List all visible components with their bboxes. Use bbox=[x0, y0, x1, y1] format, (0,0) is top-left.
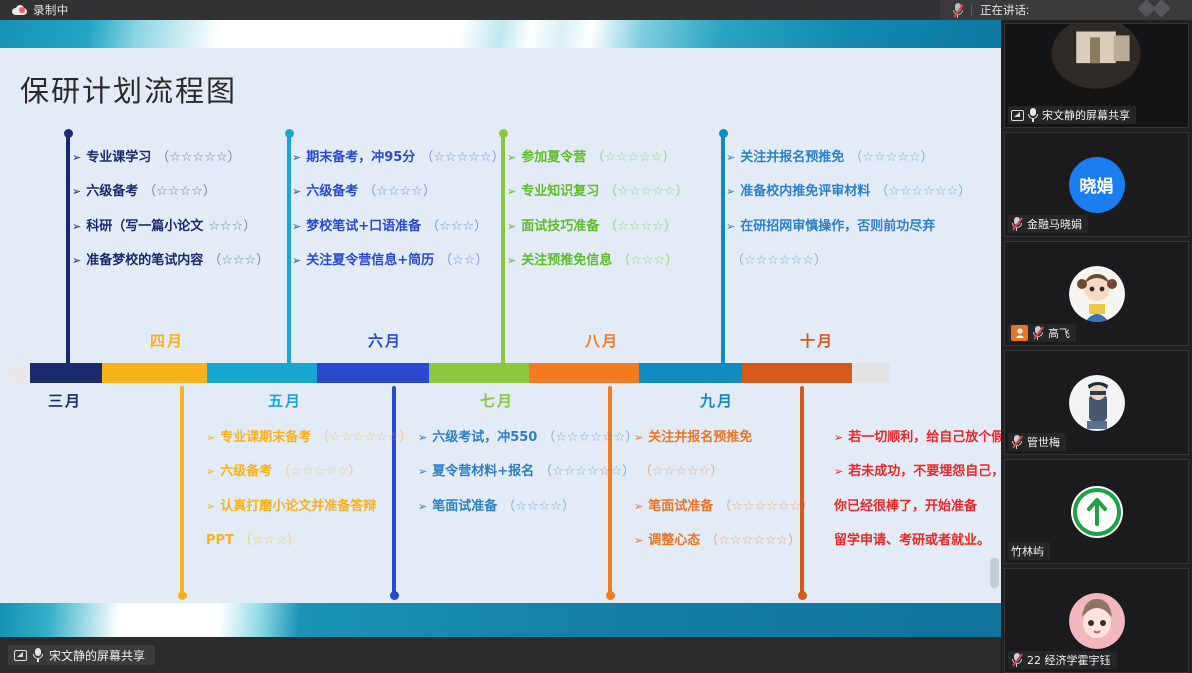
month-label-六月: 六月 bbox=[368, 330, 402, 351]
item-stars: （☆☆☆☆） bbox=[363, 184, 436, 200]
item-text: 在研招网审慎操作，否则前功尽弃 bbox=[740, 219, 935, 235]
connector-dot bbox=[64, 129, 73, 138]
speaking-label: 正在讲话: bbox=[980, 2, 1029, 18]
participant-name: 宋文静的屏幕共享 bbox=[1042, 107, 1130, 123]
item-text: PPT bbox=[206, 533, 234, 549]
item-stars: （☆☆☆☆） bbox=[502, 499, 575, 515]
participant-tile[interactable]: 高飞 bbox=[1004, 241, 1189, 346]
timeline-bar bbox=[10, 363, 920, 383]
bullet-arrow-icon: ➢ bbox=[418, 499, 427, 514]
item-stars: （☆☆☆☆☆☆） bbox=[539, 464, 635, 480]
avatar-image bbox=[1069, 593, 1125, 649]
mic-muted-icon bbox=[1011, 435, 1023, 449]
item-text: 六级备考 bbox=[306, 184, 358, 200]
timeline-connector bbox=[180, 386, 184, 596]
item-stars: （☆☆☆） bbox=[208, 253, 269, 269]
item-stars: （☆☆☆☆☆） bbox=[604, 184, 688, 200]
participant-tile[interactable]: 竹林屿 bbox=[1004, 459, 1189, 564]
bullet-arrow-icon: ➢ bbox=[726, 184, 735, 199]
participant-namebar: 管世梅 bbox=[1008, 433, 1066, 451]
item-stars: （☆☆☆☆☆） bbox=[591, 150, 675, 166]
item-stars: （☆☆☆☆） bbox=[604, 219, 677, 235]
item-text: 准备梦校的笔试内容 bbox=[86, 253, 203, 269]
participant-namebar: 22 经济学霍宇钰 bbox=[1008, 651, 1117, 669]
page-title: 保研计划流程图 bbox=[20, 68, 237, 110]
month-label-十月: 十月 bbox=[800, 330, 834, 351]
month-label-五月: 五月 bbox=[268, 390, 302, 411]
bullet-arrow-icon: ➢ bbox=[507, 150, 516, 165]
item-stars: （☆☆☆☆☆☆） bbox=[705, 533, 801, 549]
item-text: 关注并报名预推免 bbox=[740, 150, 844, 166]
list-item: ➢在研招网审慎操作，否则前功尽弃 bbox=[726, 219, 986, 235]
bullet-arrow-icon: ➢ bbox=[292, 184, 301, 199]
item-text: 关注预推免信息 bbox=[521, 253, 612, 269]
item-text: 六级考试，冲550 bbox=[432, 430, 537, 446]
item-stars: （☆☆☆☆☆☆） bbox=[875, 184, 971, 200]
bullet-arrow-icon: ➢ bbox=[726, 150, 735, 165]
timeline-connector bbox=[66, 133, 70, 365]
item-text: 调整心态 bbox=[648, 533, 700, 549]
slide-top-decoration bbox=[0, 20, 1001, 48]
bullet-arrow-icon: ➢ bbox=[292, 150, 301, 165]
bullet-arrow-icon: ➢ bbox=[72, 253, 81, 268]
avatar-image bbox=[1069, 375, 1125, 431]
list-item: ➢若未成功，不要埋怨自己， bbox=[834, 464, 1001, 480]
bullet-arrow-icon: ➢ bbox=[634, 533, 643, 548]
item-text: 关注夏令营信息+简历 bbox=[306, 253, 434, 269]
bullet-arrow-icon: ➢ bbox=[507, 219, 516, 234]
connector-dot bbox=[390, 591, 399, 600]
month-label-三月: 三月 bbox=[48, 390, 82, 411]
timeline-segment-4 bbox=[317, 363, 429, 383]
list-item: ➢若一切顺利，给自己放个假 bbox=[834, 430, 1001, 446]
item-stars: （☆☆☆） bbox=[239, 533, 300, 549]
bullet-arrow-icon: ➢ bbox=[206, 499, 215, 514]
mic-on-icon bbox=[1028, 108, 1038, 122]
bullet-arrow-icon: ➢ bbox=[206, 464, 215, 479]
item-stars: （☆☆☆☆☆☆） bbox=[731, 253, 827, 269]
divider bbox=[971, 4, 972, 16]
mic-muted-icon bbox=[1011, 653, 1023, 667]
item-stars: （☆☆☆☆☆☆） bbox=[316, 430, 412, 446]
screen-share-label: 宋文静的屏幕共享 bbox=[49, 647, 145, 664]
record-dot-icon bbox=[19, 7, 25, 13]
month-label-四月: 四月 bbox=[150, 330, 184, 351]
participant-name: 金融马晓娟 bbox=[1027, 216, 1082, 232]
item-text: 准备校内推免评审材料 bbox=[740, 184, 870, 200]
item-text: 关注并报名预推免 bbox=[648, 430, 752, 446]
connector-dot bbox=[798, 591, 807, 600]
screen-share-status[interactable]: 宋文静的屏幕共享 bbox=[8, 645, 155, 665]
item-text: 若一切顺利，给自己放个假 bbox=[848, 430, 1001, 446]
bullet-arrow-icon: ➢ bbox=[292, 219, 301, 234]
speaking-status: 正在讲话: bbox=[940, 0, 1192, 20]
timeline-segment-0 bbox=[10, 363, 30, 383]
item-text: 若未成功，不要埋怨自己， bbox=[848, 464, 1001, 480]
item-text: 专业课学习 bbox=[86, 150, 151, 166]
item-text: 专业知识复习 bbox=[521, 184, 599, 200]
mic-muted-icon bbox=[1032, 326, 1044, 340]
bullet-arrow-icon: ➢ bbox=[834, 430, 843, 445]
timeline-segment-6 bbox=[529, 363, 639, 383]
bullet-arrow-icon: ➢ bbox=[292, 253, 301, 268]
list-item: ➢准备校内推免评审材料 （☆☆☆☆☆☆） bbox=[726, 184, 986, 200]
mic-muted-icon bbox=[1011, 217, 1023, 231]
item-text: 期末备考，冲95分 bbox=[306, 150, 415, 166]
connector-dot bbox=[606, 591, 615, 600]
slide-bottom-decoration bbox=[0, 603, 1001, 637]
item-text: 认真打磨小论文并准备答辩 bbox=[220, 499, 376, 515]
timeline-segment-8 bbox=[742, 363, 852, 383]
up-arrow-icon bbox=[1069, 484, 1125, 540]
item-stars: （☆☆☆☆☆） bbox=[156, 150, 240, 166]
timeline-segment-2 bbox=[102, 363, 207, 383]
participant-namebar: 高飞 bbox=[1008, 324, 1076, 342]
cloud-record-icon bbox=[12, 5, 27, 15]
participant-name: 高飞 bbox=[1048, 325, 1070, 341]
item-stars: （☆☆☆☆☆☆） bbox=[718, 499, 814, 515]
participant-tile[interactable]: 管世梅 bbox=[1004, 350, 1189, 455]
mic-muted-icon[interactable] bbox=[952, 3, 963, 18]
connector-dot bbox=[285, 129, 294, 138]
item-stars: （☆☆☆） bbox=[617, 253, 678, 269]
bullet-arrow-icon: ➢ bbox=[418, 464, 427, 479]
avatar-image bbox=[1069, 266, 1125, 322]
item-stars: （☆☆☆☆） bbox=[143, 184, 216, 200]
timeline-segment-9 bbox=[852, 363, 890, 383]
slide-scrollbar[interactable] bbox=[990, 558, 999, 588]
item-text: 专业课期末备考 bbox=[220, 430, 311, 446]
participant-panel[interactable]: 宋文静的屏幕共享晓娟金融马晓娟高飞管世梅竹林屿22 经济学霍宇钰 bbox=[1001, 20, 1192, 673]
timeline-segment-3 bbox=[207, 363, 317, 383]
bullet-arrow-icon: ➢ bbox=[206, 430, 215, 445]
item-stars: （☆☆☆☆☆） bbox=[639, 464, 723, 480]
participant-name: 管世梅 bbox=[1027, 434, 1060, 450]
participant-namebar: 宋文静的屏幕共享 bbox=[1008, 106, 1136, 124]
bullet-arrow-icon: ➢ bbox=[418, 430, 427, 445]
bullet-arrow-icon: ➢ bbox=[834, 464, 843, 479]
item-text: 六级备考 bbox=[86, 184, 138, 200]
screen-share-icon bbox=[14, 650, 27, 661]
chevron-decoration-icon bbox=[1140, 2, 1168, 15]
item-stars: （☆☆☆☆☆） bbox=[849, 150, 933, 166]
item-text: 笔面试准备 bbox=[432, 499, 497, 515]
timeline-segment-7 bbox=[639, 363, 742, 383]
mic-on-icon bbox=[33, 648, 43, 662]
item-text: 笔面试准备 bbox=[648, 499, 713, 515]
connector-dot bbox=[178, 591, 187, 600]
item-text: 六级备考 bbox=[220, 464, 272, 480]
recording-indicator: 录制中 bbox=[12, 0, 69, 20]
item-stars: ☆☆☆） bbox=[208, 219, 256, 235]
month-label-七月: 七月 bbox=[480, 390, 514, 411]
connector-dot bbox=[719, 129, 728, 138]
list-item: 留学申请、考研或者就业。 bbox=[834, 533, 1001, 549]
bullet-arrow-icon: ➢ bbox=[634, 499, 643, 514]
item-text: 梦校笔试+口语准备 bbox=[306, 219, 421, 235]
item-stars: （☆☆☆☆☆） bbox=[277, 464, 361, 480]
bullet-arrow-icon: ➢ bbox=[72, 150, 81, 165]
list-item: ➢关注并报名预推免 （☆☆☆☆☆） bbox=[726, 150, 986, 166]
bullet-arrow-icon: ➢ bbox=[72, 184, 81, 199]
bullet-arrow-icon: ➢ bbox=[726, 219, 735, 234]
bullet-arrow-icon: ➢ bbox=[507, 184, 516, 199]
screen-share-icon bbox=[1011, 110, 1024, 121]
recording-label: 录制中 bbox=[33, 2, 69, 18]
bullet-arrow-icon: ➢ bbox=[507, 253, 516, 268]
timeline-segment-1 bbox=[30, 363, 102, 383]
participant-name: 竹林屿 bbox=[1011, 543, 1044, 559]
bullet-arrow-icon: ➢ bbox=[72, 219, 81, 234]
list-item: 你已经很棒了，开始准备 bbox=[834, 499, 1001, 515]
host-badge-icon bbox=[1011, 325, 1028, 341]
participant-tile[interactable]: 晓娟金融马晓娟 bbox=[1004, 132, 1189, 237]
item-text: 科研（写一篇小论文 bbox=[86, 219, 203, 235]
participant-tile[interactable]: 22 经济学霍宇钰 bbox=[1004, 568, 1189, 673]
list-item: PPT （☆☆☆） bbox=[206, 533, 466, 549]
list-item: （☆☆☆☆☆☆） bbox=[726, 253, 986, 269]
participant-namebar: 金融马晓娟 bbox=[1008, 215, 1088, 233]
timeline-segment-5 bbox=[429, 363, 529, 383]
item-text: 面试技巧准备 bbox=[521, 219, 599, 235]
item-text: 留学申请、考研或者就业。 bbox=[834, 533, 990, 549]
shared-screen-slide: 保研计划流程图 ➢专业课学习 （☆☆☆☆☆）➢六级备考 （☆☆☆☆）➢科研（写一… bbox=[0, 20, 1001, 637]
item-text: 你已经很棒了，开始准备 bbox=[834, 499, 977, 515]
month-label-八月: 八月 bbox=[585, 330, 619, 351]
column-final: ➢若一切顺利，给自己放个假➢若未成功，不要埋怨自己，你已经很棒了，开始准备留学申… bbox=[834, 430, 1001, 567]
item-stars: （☆☆） bbox=[439, 253, 488, 269]
bottom-bar: 宋文静的屏幕共享 bbox=[0, 637, 1001, 673]
participant-name: 22 经济学霍宇钰 bbox=[1027, 652, 1111, 668]
participant-tile[interactable]: 宋文静的屏幕共享 bbox=[1004, 23, 1189, 128]
connector-dot bbox=[499, 129, 508, 138]
bullet-arrow-icon: ➢ bbox=[634, 430, 643, 445]
item-stars: （☆☆☆） bbox=[426, 219, 487, 235]
top-status-bar: 录制中 正在讲话: bbox=[0, 0, 1192, 20]
column-十月: ➢关注并报名预推免 （☆☆☆☆☆）➢准备校内推免评审材料 （☆☆☆☆☆☆）➢在研… bbox=[726, 150, 986, 287]
item-text: 参加夏令营 bbox=[521, 150, 586, 166]
item-stars: （☆☆☆☆☆） bbox=[420, 150, 504, 166]
participant-namebar: 竹林屿 bbox=[1008, 542, 1050, 560]
avatar-initials: 晓娟 bbox=[1069, 157, 1125, 213]
month-label-九月: 九月 bbox=[700, 390, 734, 411]
item-text: 夏令营材料+报名 bbox=[432, 464, 534, 480]
item-stars: （☆☆☆☆☆☆） bbox=[542, 430, 638, 446]
